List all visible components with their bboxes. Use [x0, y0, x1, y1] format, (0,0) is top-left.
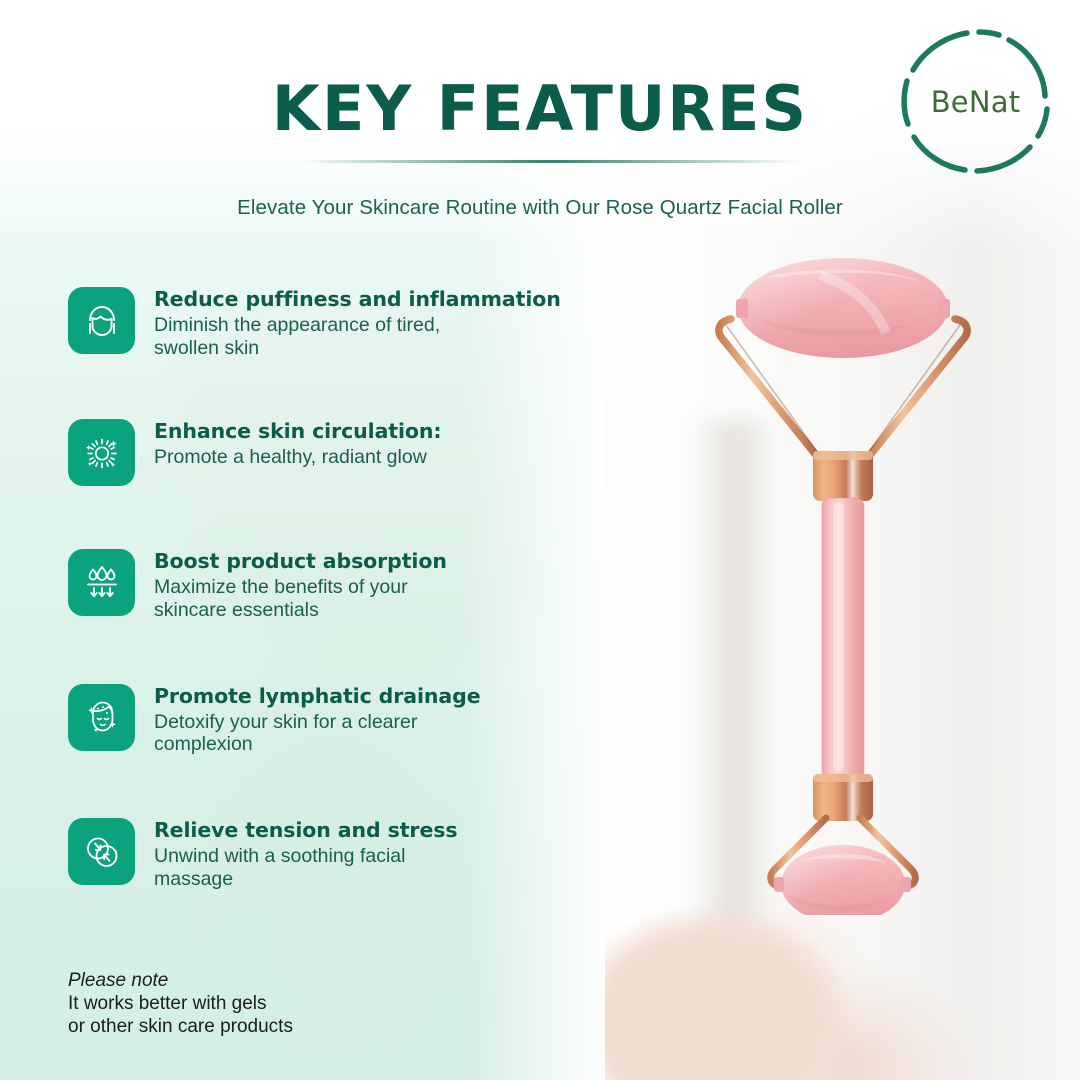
sun-sparkle-icon — [82, 433, 122, 473]
face-puffiness-icon — [82, 301, 122, 341]
massage-circles-icon — [82, 832, 122, 872]
feature-icon-tile — [68, 419, 135, 486]
feature-item: Promote lymphatic drainage Detoxify your… — [68, 684, 568, 756]
feature-heading: Relieve tension and stress — [154, 819, 484, 843]
feature-text: Promote lymphatic drainage Detoxify your… — [154, 684, 484, 756]
feature-icon-tile — [68, 287, 135, 354]
feature-icon-tile — [68, 684, 135, 751]
glowing-face-icon — [82, 697, 122, 737]
feature-description: Detoxify your skin for a clearer complex… — [154, 711, 484, 757]
footnote-title: Please note — [68, 969, 293, 992]
feature-heading: Boost product absorption — [154, 550, 484, 574]
rose-quartz-roller-illustration — [700, 255, 1020, 915]
feature-description: Maximize the benefits of your skincare e… — [154, 576, 484, 622]
feature-text: Enhance skin circulation: Promote a heal… — [154, 419, 442, 469]
feature-heading: Promote lymphatic drainage — [154, 685, 484, 709]
feature-item: Relieve tension and stress Unwind with a… — [68, 818, 568, 890]
footnote-line-2: or other skin care products — [68, 1015, 293, 1038]
page-title: KEY FEATURES — [0, 72, 1080, 145]
feature-icon-tile — [68, 818, 135, 885]
feature-item: Reduce puffiness and inflammation Dimini… — [68, 287, 568, 359]
feature-icon-tile — [68, 549, 135, 616]
page-subtitle: Elevate Your Skincare Routine with Our R… — [0, 196, 1080, 220]
feature-heading: Enhance skin circulation: — [154, 420, 442, 444]
feature-item: Boost product absorption Maximize the be… — [68, 549, 568, 621]
feature-description: Promote a healthy, radiant glow — [154, 446, 442, 469]
feature-description: Unwind with a soothing facial massage — [154, 845, 484, 891]
feature-list: Reduce puffiness and inflammation Dimini… — [68, 287, 568, 891]
title-divider — [300, 160, 800, 163]
product-image — [700, 255, 1020, 915]
feature-item: Enhance skin circulation: Promote a heal… — [68, 419, 568, 486]
footnote: Please note It works better with gels or… — [68, 969, 293, 1039]
feature-text: Boost product absorption Maximize the be… — [154, 549, 484, 621]
feature-description: Diminish the appearance of tired, swolle… — [154, 314, 484, 360]
infographic-canvas: BeNat KEY FEATURES Elevate Your Skincare… — [0, 0, 1080, 1080]
feature-text: Reduce puffiness and inflammation Dimini… — [154, 287, 561, 359]
feature-heading: Reduce puffiness and inflammation — [154, 288, 561, 312]
feature-text: Relieve tension and stress Unwind with a… — [154, 818, 484, 890]
footnote-line-1: It works better with gels — [68, 992, 293, 1015]
droplets-absorption-icon — [82, 563, 122, 603]
